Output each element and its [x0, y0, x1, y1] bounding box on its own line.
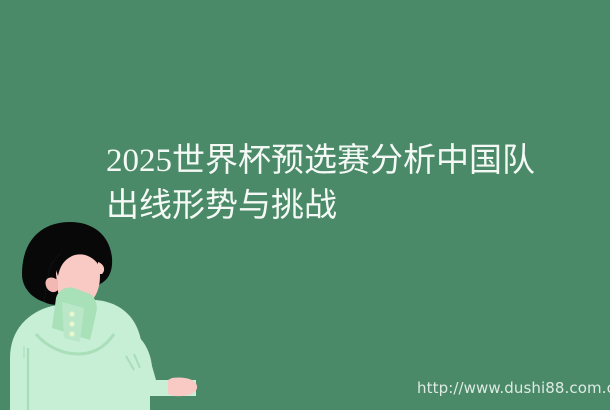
title-line-1: 2025世界杯预选赛分析中国队 [106, 139, 506, 184]
article-cover-banner: 2025世界杯预选赛分析中国队 出线形势与挑战 http://www.dushi… [0, 0, 610, 410]
watermark-url: http://www.dushi88.com.cn [417, 379, 610, 397]
page-title: 2025世界杯预选赛分析中国队 出线形势与挑战 [106, 139, 506, 229]
title-line-2: 出线形势与挑战 [106, 184, 506, 229]
collar-buttons-group [69, 311, 74, 336]
person-looking-up-illustration [0, 218, 200, 410]
